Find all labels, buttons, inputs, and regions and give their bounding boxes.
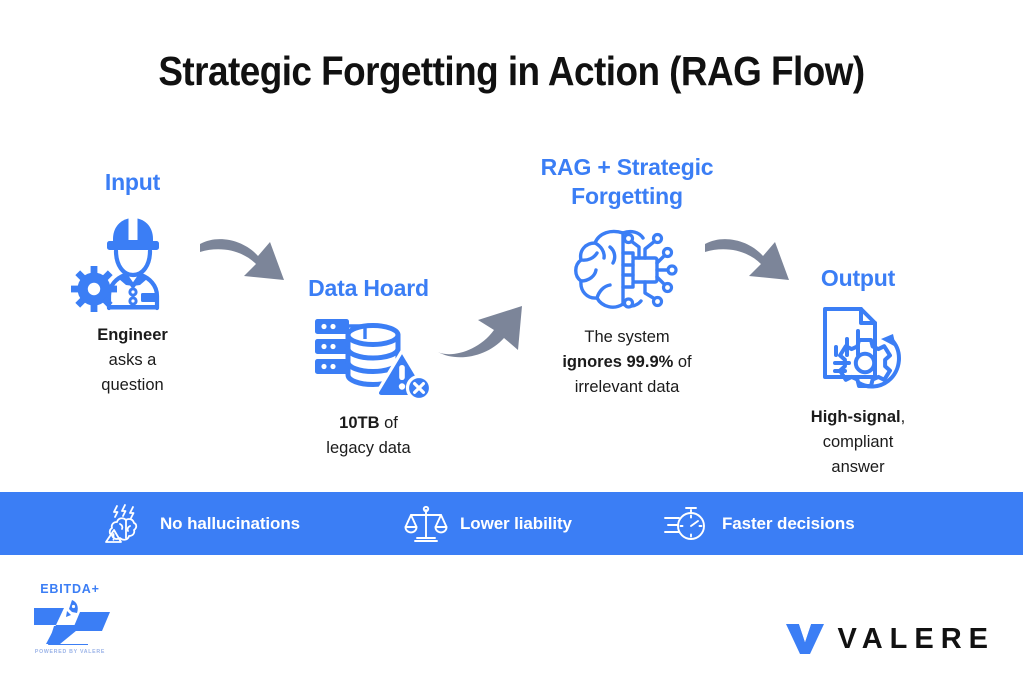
ai-brain-circuit-icon bbox=[571, 225, 683, 313]
benefit-faster-decisions: Faster decisions bbox=[662, 504, 855, 544]
valere-v-mark bbox=[784, 620, 826, 658]
ebitda-logo: EBITDA+ POWERED BY VALERE bbox=[20, 582, 120, 666]
ebitda-wordmark: EBITDA+ bbox=[20, 582, 120, 596]
ebitda-tagline: POWERED BY VALERE bbox=[20, 649, 120, 655]
stopwatch-speed-icon bbox=[662, 504, 710, 544]
stage-output-caption-line3: answer bbox=[831, 458, 884, 476]
stage-rag-caption: The system ignores 99.9% of irrelevant d… bbox=[517, 325, 737, 400]
brain-lightning-icon bbox=[104, 504, 148, 544]
valere-logo: VALERE bbox=[784, 620, 995, 658]
valere-wordmark: VALERE bbox=[838, 625, 995, 654]
stage-rag-caption-line1: The system bbox=[584, 328, 669, 346]
slide-canvas: Strategic Forgetting in Action (RAG Flow… bbox=[0, 0, 1023, 677]
stage-input-caption-line3: question bbox=[101, 376, 163, 394]
benefits-bar: No hallucinations Lower liabil bbox=[0, 492, 1023, 555]
stage-data-hoard-heading: Data Hoard bbox=[281, 274, 456, 303]
scales-balance-icon bbox=[404, 504, 448, 544]
stage-input-heading: Input bbox=[40, 168, 225, 197]
benefit-label-0: No hallucinations bbox=[160, 514, 300, 534]
benefit-label-1: Lower liability bbox=[460, 514, 572, 534]
stage-output-caption-line2: compliant bbox=[823, 433, 894, 451]
stage-rag-heading-line1: RAG + Strategic bbox=[541, 154, 714, 180]
stage-rag-heading: RAG + Strategic Forgetting bbox=[517, 153, 737, 211]
ebitda-rocket-w-mark bbox=[20, 598, 120, 646]
benefit-no-hallucinations: No hallucinations bbox=[104, 504, 300, 544]
stage-output-caption-line1: High-signal, bbox=[811, 408, 905, 426]
stage-input-caption-line2: asks a bbox=[109, 351, 157, 369]
report-gear-refresh-icon bbox=[803, 303, 913, 395]
benefit-lower-liability: Lower liability bbox=[404, 504, 572, 544]
stage-data-hoard: Data Hoard bbox=[281, 274, 456, 461]
stage-output: Output High-sig bbox=[770, 264, 946, 480]
stage-rag-heading-line2: Forgetting bbox=[571, 183, 683, 209]
stage-output-heading: Output bbox=[770, 264, 946, 293]
ebitda-plus-text: + bbox=[92, 582, 100, 596]
benefit-label-2: Faster decisions bbox=[722, 514, 855, 534]
stage-input-caption: Engineer asks a question bbox=[40, 323, 225, 398]
stage-output-caption: High-signal, compliant answer bbox=[770, 405, 946, 480]
stage-data-hoard-caption-line2: legacy data bbox=[326, 439, 410, 457]
stage-data-hoard-caption: 10TB of legacy data bbox=[281, 411, 456, 461]
stage-data-hoard-caption-line1: 10TB of bbox=[339, 414, 398, 432]
stage-input-caption-strong: Engineer bbox=[97, 326, 168, 344]
page-title: Strategic Forgetting in Action (RAG Flow… bbox=[51, 48, 972, 95]
arrow-input-to-hoard bbox=[196, 232, 290, 288]
stage-rag-caption-line3: irrelevant data bbox=[575, 378, 680, 396]
ebitda-word-text: EBITDA bbox=[40, 582, 91, 596]
stage-rag-caption-line2: ignores 99.9% of bbox=[562, 353, 691, 371]
database-server-warning-icon bbox=[309, 313, 429, 401]
engineer-hardhat-gear-icon bbox=[69, 213, 197, 313]
